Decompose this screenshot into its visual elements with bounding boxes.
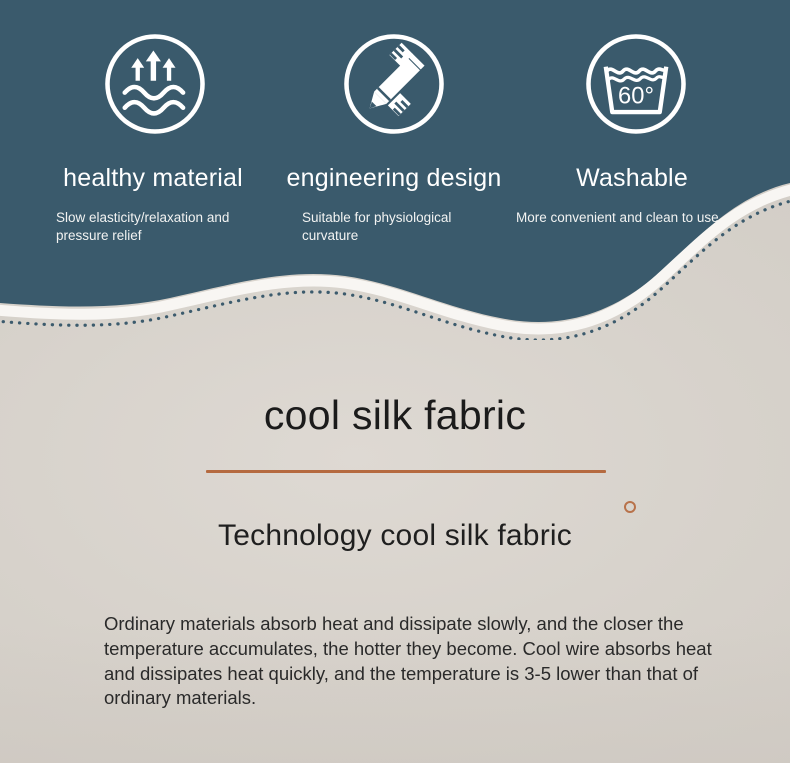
page-subtitle: Technology cool silk fabric bbox=[0, 519, 790, 553]
main-content: cool silk fabric Technology cool silk fa… bbox=[0, 0, 790, 763]
page-title: cool silk fabric bbox=[0, 392, 790, 439]
accent-divider bbox=[206, 470, 606, 473]
product-feature-page: healthy material Slow elasticity/relaxat… bbox=[0, 0, 790, 763]
decorative-circle-icon bbox=[624, 501, 636, 513]
body-paragraph: Ordinary materials absorb heat and dissi… bbox=[104, 612, 724, 711]
